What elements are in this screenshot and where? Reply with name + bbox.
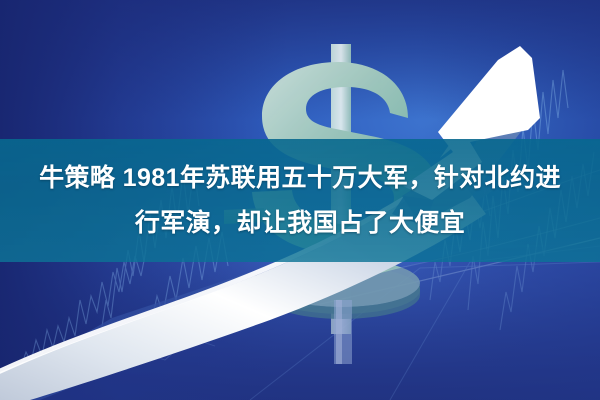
caption-line-1: 牛策略 1981年苏联用五十万大军，针对北约进	[39, 156, 561, 201]
caption-band: 牛策略 1981年苏联用五十万大军，针对北约进 行军演，却让我国占了大便宜	[0, 139, 600, 262]
caption-line-2: 行军演，却让我国占了大便宜	[135, 201, 465, 246]
banner-image: 牛策略 1981年苏联用五十万大军，针对北约进 行军演，却让我国占了大便宜	[0, 0, 600, 400]
